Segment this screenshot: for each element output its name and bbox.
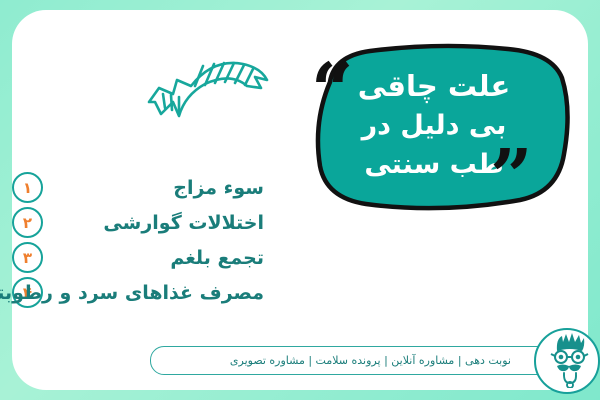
poster-canvas: “ ” علت چاقی بی دلیل در طب سنتی ۱ سوء مز…	[0, 0, 600, 400]
footer-services-text: نوبت دهی | مشاوره آنلاین | پرونده سلامت …	[230, 347, 511, 374]
list-item-number: ۳	[12, 242, 43, 273]
list-item-label: سوء مزاج	[173, 177, 276, 199]
list-item: ۴ مصرف غذاهای سرد و رطوبتی	[12, 275, 342, 310]
cause-list: ۱ سوء مزاج ۲ اختلالات گوارشی ۳ تجمع بلغم…	[12, 170, 342, 310]
list-item-label: مصرف غذاهای سرد و رطوبتی	[0, 282, 276, 304]
quote-close-mark: ”	[490, 140, 533, 214]
list-item: ۱ سوء مزاج	[12, 170, 342, 205]
ribbon-decoration	[143, 50, 273, 128]
headline-speech-bubble: “ ” علت چاقی بی دلیل در طب سنتی	[300, 40, 580, 220]
doctor-face-icon	[540, 330, 598, 388]
doctor-logo	[534, 328, 600, 394]
footer-services-wrap: نوبت دهی | مشاوره آنلاین | پرونده سلامت …	[151, 347, 525, 374]
quote-open-mark: “	[311, 54, 354, 128]
list-item-label: تجمع بلغم	[170, 247, 276, 269]
list-item-number: ۲	[12, 207, 43, 238]
list-item-label: اختلالات گوارشی	[103, 212, 276, 234]
list-item-number: ۱	[12, 172, 43, 203]
poster-card: “ ” علت چاقی بی دلیل در طب سنتی ۱ سوء مز…	[12, 10, 588, 390]
list-item: ۳ تجمع بلغم	[12, 240, 342, 275]
ribbon-icon	[143, 50, 273, 128]
list-item: ۲ اختلالات گوارشی	[12, 205, 342, 240]
footer-services-pill: نوبت دهی | مشاوره آنلاین | پرونده سلامت …	[150, 346, 552, 375]
